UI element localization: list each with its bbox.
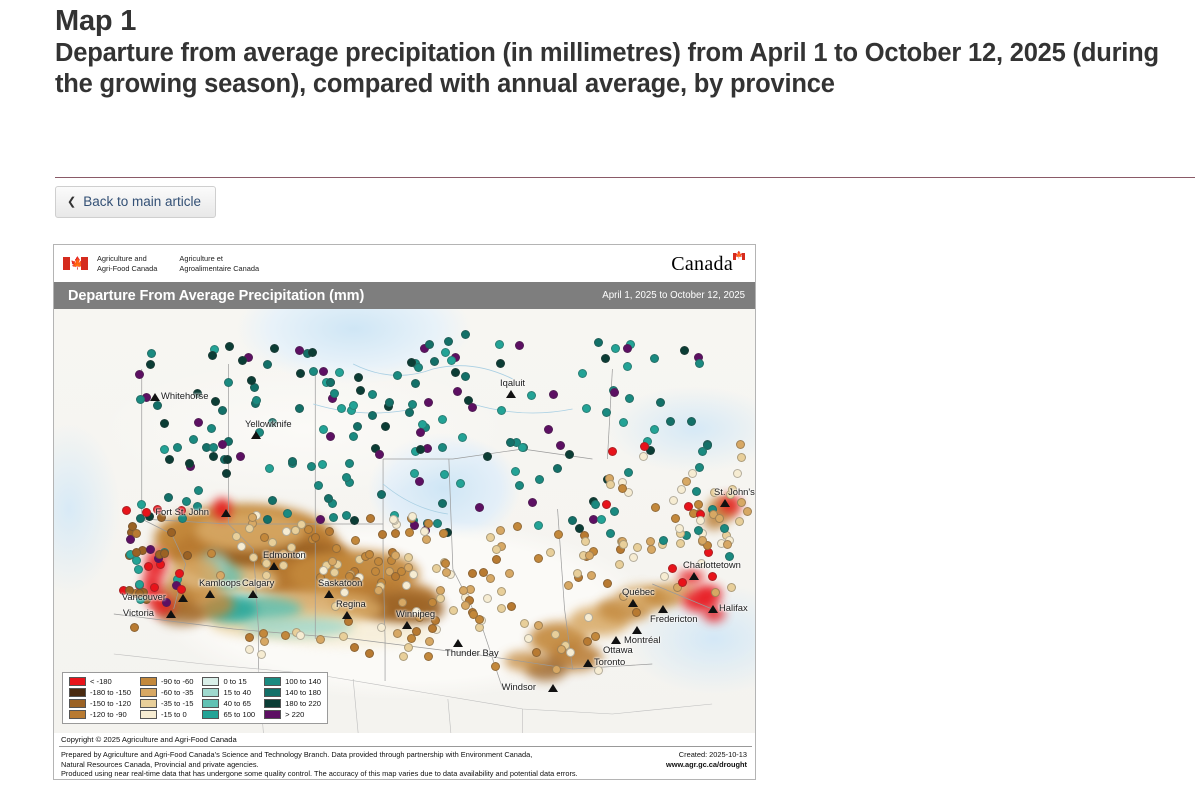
station-dot [222,469,231,478]
station-dot [167,528,176,537]
station-dot [696,516,705,525]
station-dot [260,533,269,542]
legend-label: -35 to -15 [161,699,194,708]
station-dot [308,348,317,357]
station-dot [424,398,433,407]
city-triangle-icon [221,509,231,517]
station-dot [565,450,574,459]
station-dot [461,372,470,381]
station-dot [453,387,462,396]
canada-flag-icon: 🍁 [63,257,88,270]
station-dot [425,340,434,349]
legend-swatch [69,677,86,686]
map-number: Map 1 [55,4,1185,38]
station-dot [430,357,439,366]
station-dot [237,542,246,551]
footer-right: Created: 2025-10-13 www.agr.gc.ca/drough… [666,750,747,780]
station-dot [438,499,447,508]
station-dot [160,549,169,558]
station-dot [624,468,633,477]
station-dot [451,368,460,377]
station-dot [393,371,402,380]
station-dot [439,529,448,538]
city-triangle-icon [689,572,699,580]
station-dot [698,536,707,545]
station-dot [425,637,434,646]
city-triangle-icon [708,605,718,613]
station-dot [416,445,425,454]
station-dot [601,354,610,363]
station-dot [666,417,675,426]
station-dot [468,403,477,412]
city-label: Saskatoon [318,578,362,588]
station-dot [436,594,445,603]
station-dot [633,543,642,552]
station-dot [698,447,707,456]
station-dot [391,551,400,560]
station-dot [354,373,363,382]
station-dot [209,452,218,461]
station-dot [279,561,288,570]
station-dot [326,378,335,387]
city-label: Regina [336,599,366,609]
city-triangle-icon [506,390,516,398]
station-dot [182,497,191,506]
city-triangle-icon [548,684,558,692]
station-dot [309,367,318,376]
station-dot [615,560,624,569]
station-dot [189,435,198,444]
station-dot [587,571,596,580]
station-dot [365,649,374,658]
city-triangle-icon [166,610,176,618]
station-dot [650,425,659,434]
station-dot [319,367,328,376]
station-dot [353,422,362,431]
station-dot [268,538,277,547]
city-label: Halifax [719,603,748,613]
station-dot [534,554,543,563]
city-triangle-icon [583,659,593,667]
legend-item: -180 to -150 [69,688,131,697]
city-triangle-icon [342,611,352,619]
station-dot [578,369,587,378]
station-dot [385,398,394,407]
legend-item: -120 to -90 [69,710,131,719]
station-dot [365,550,374,559]
station-dot [735,517,744,526]
station-dot [511,467,520,476]
station-dot [153,401,162,410]
station-dot [374,586,383,595]
station-dot [694,526,703,535]
legend-item: 65 to 100 [202,710,255,719]
station-dot [371,567,380,576]
station-dot [727,583,736,592]
station-dot [356,386,365,395]
station-dot [340,588,349,597]
city-label: Fort St. John [155,507,209,517]
station-dot [619,540,628,549]
city-label: Toronto [594,657,625,667]
station-dot [316,515,325,524]
station-dot [573,569,582,578]
station-dot [391,572,400,581]
station-dot [415,477,424,486]
station-dot [711,588,720,597]
station-dot [391,529,400,538]
legend-label: 140 to 180 [285,688,321,697]
city-label: Whitehorse [161,391,208,401]
station-dot [177,585,186,594]
wordmark-english: Agriculture and Agri-Food Canada [97,254,157,272]
station-dot [720,524,729,533]
station-dot [245,524,254,533]
city-label: St. John's [714,487,755,497]
station-dot [602,500,611,509]
city-label: Yellowknife [245,419,292,429]
station-dot [130,623,139,632]
city-triangle-icon [269,562,279,570]
station-dot [568,516,577,525]
legend-swatch [140,699,157,708]
city-label: Charlottetown [683,560,741,570]
legend-item: 15 to 40 [202,688,255,697]
station-dot [619,418,628,427]
legend-swatch [140,677,157,686]
station-dot [743,507,752,516]
station-dot [495,340,504,349]
station-dot [173,443,182,452]
station-dot [218,440,227,449]
station-dot [594,338,603,347]
station-dot [296,369,305,378]
station-dot [520,619,529,628]
station-dot [610,507,619,516]
station-dot [552,665,561,674]
station-dot [549,390,558,399]
station-dot [650,354,659,363]
station-dot [349,401,358,410]
station-dot [603,579,612,588]
station-dot [551,630,560,639]
station-dot [528,498,537,507]
legend-swatch [202,699,219,708]
station-dot [632,608,641,617]
station-dot [218,406,227,415]
city-triangle-icon [150,393,160,401]
legend-label: -150 to -120 [90,699,131,708]
city-label: Windsor [502,682,536,692]
station-dot [640,442,649,451]
station-dot [378,530,387,539]
station-dot [311,533,320,542]
station-dot [122,506,131,515]
station-dot [283,509,292,518]
station-dot [398,598,407,607]
map-legend: < -180-90 to -600 to 15100 to 140-180 to… [62,672,328,724]
station-dot [295,404,304,413]
station-dot [554,530,563,539]
legend-swatch [264,699,281,708]
station-dot [281,631,290,640]
station-dot [319,566,328,575]
station-dot [639,452,648,461]
station-dot [456,479,465,488]
station-dot [134,565,143,574]
station-dot [668,564,677,573]
station-dot [557,645,566,654]
station-dot [194,486,203,495]
station-dot [546,548,555,557]
station-dot [208,351,217,360]
station-dot [183,551,192,560]
station-dot [441,559,450,568]
station-dot [232,532,241,541]
legend-label: < -180 [90,677,112,686]
city-label: Fredericton [650,614,697,624]
station-dot [556,441,565,450]
legend-label: 40 to 65 [223,699,250,708]
city-triangle-icon [324,590,334,598]
city-label: Kamloops [199,578,241,588]
city-triangle-icon [632,626,642,634]
station-dot [224,378,233,387]
station-dot [515,481,524,490]
station-dot [377,623,386,632]
station-dot [424,652,433,661]
station-dot [535,475,544,484]
station-dot [399,652,408,661]
legend-swatch [69,710,86,719]
station-dot [497,406,506,415]
station-dot [296,631,305,640]
station-dot [458,433,467,442]
legend-item: -150 to -120 [69,699,131,708]
station-dot [316,635,325,644]
station-dot [566,648,575,657]
station-dot [381,422,390,431]
legend-label: 100 to 140 [285,677,321,686]
station-dot [342,473,351,482]
station-dot [345,459,354,468]
agency-brand-row: 🍁 Agriculture and Agri-Food Canada Agric… [54,245,755,282]
canada-wordmark-flag-icon: 🍁 [733,253,745,260]
station-dot [438,415,447,424]
station-dot [335,368,344,377]
city-triangle-icon [611,636,621,644]
station-dot [715,514,724,523]
station-dot [407,634,416,643]
city-label: Ottawa [603,645,633,655]
station-dot [223,455,232,464]
legend-item: -60 to -35 [140,688,194,697]
map-date-range: April 1, 2025 to October 12, 2025 [602,290,745,301]
station-dot [432,564,441,573]
legend-swatch [202,710,219,719]
city-label: Thunder Bay [445,648,499,658]
page-root: Map 1 Departure from average precipitati… [0,0,1195,812]
map-footer: Prepared by Agriculture and Agri-Food Ca… [54,748,755,780]
station-dot [137,500,146,509]
station-dot [669,496,678,505]
station-dot [260,637,269,646]
station-dot [737,453,746,462]
back-to-main-article-button[interactable]: ❮ Back to main article [55,186,216,218]
city-label: Victoria [123,608,154,618]
city-triangle-icon [402,621,412,629]
station-dot [282,527,291,536]
station-dot [146,360,155,369]
station-dot [265,464,274,473]
station-dot [247,376,256,385]
station-dot [164,493,173,502]
station-dot [236,452,245,461]
station-dot [325,527,334,536]
legend-label: -90 to -60 [161,677,194,686]
station-dot [513,522,522,531]
city-triangle-icon [720,499,730,507]
station-dot [337,404,346,413]
station-dot [225,342,234,351]
legend-item: > 220 [264,710,321,719]
station-dot [687,417,696,426]
station-dot [318,460,327,469]
station-dot [486,574,495,583]
legend-item: 140 to 180 [264,688,321,697]
city-triangle-icon [205,590,215,598]
station-dot [442,568,451,577]
station-dot [677,485,686,494]
station-dot [583,637,592,646]
station-dot [366,514,375,523]
station-dot [581,537,590,546]
city-label: Edmonton [263,550,306,560]
legend-label: 65 to 100 [223,710,255,719]
station-dot [647,545,656,554]
station-dot [678,578,687,587]
station-dot [422,535,431,544]
legend-item: < -180 [69,677,131,686]
drought-url[interactable]: www.agr.gc.ca/drought [666,760,747,770]
station-dot [209,443,218,452]
station-dot [524,634,533,643]
station-dot [438,443,447,452]
station-dot [651,503,660,512]
footer-divider [59,746,752,747]
station-dot [165,455,174,464]
city-label: Vancouver [122,592,166,602]
station-dot [328,557,337,566]
station-dot [527,391,536,400]
station-dot [475,503,484,512]
station-dot [297,520,306,529]
legend-swatch [264,710,281,719]
station-dot [505,569,514,578]
station-dot [263,360,272,369]
station-dot [207,549,216,558]
station-dot [377,490,386,499]
station-dot [564,581,573,590]
station-dot [408,512,417,521]
station-dot [708,572,717,581]
station-dot [692,487,701,496]
station-dot [695,359,704,368]
station-dot [534,621,543,630]
station-dot [332,544,341,553]
station-dot [483,594,492,603]
station-dot [553,464,562,473]
station-dot [606,529,615,538]
legend-swatch [140,710,157,719]
station-dot [393,629,402,638]
station-dot [515,341,524,350]
station-dot [339,632,348,641]
station-dot [723,540,732,549]
station-dot [248,513,257,522]
station-dot [350,516,359,525]
legend-item: 0 to 15 [202,677,255,686]
legend-label: > 220 [285,710,304,719]
station-dot [623,362,632,371]
created-date: Created: 2025-10-13 [666,750,747,760]
station-dot [506,438,515,447]
station-dot [449,606,458,615]
station-dot [623,344,632,353]
legend-swatch [69,699,86,708]
station-dot [414,363,423,372]
station-dot [737,498,746,507]
station-dot [544,425,553,434]
city-triangle-icon [248,590,258,598]
station-dot [584,613,593,622]
map-canvas: WhitehorseYellowknifeIqaluitFort St. Joh… [54,309,755,733]
station-dot [375,450,384,459]
station-dot [602,408,611,417]
station-dot [263,515,272,524]
legend-swatch [69,688,86,697]
station-dot [132,548,141,557]
station-dot [135,370,144,379]
map-figure: 🍁 Agriculture and Agri-Food Canada Agric… [53,244,756,780]
station-dot [142,508,151,517]
station-dot [307,462,316,471]
station-dot [597,515,606,524]
station-dot [404,643,413,652]
map-title-bar: Departure From Average Precipitation (mm… [54,282,755,309]
city-label: Winnipeg [396,609,435,619]
legend-item: -35 to -15 [140,699,194,708]
station-dot [582,404,591,413]
map-title-text: Departure From Average Precipitation (mm… [68,288,364,304]
heading-block: Map 1 Departure from average precipitati… [55,4,1185,100]
station-dot [160,445,169,454]
city-triangle-icon [251,431,261,439]
city-label: Québec [622,587,655,597]
station-dot [532,648,541,657]
station-dot [518,443,527,452]
back-button-label: Back to main article [83,195,201,209]
page-title: Departure from average precipitation (in… [55,38,1175,100]
station-dot [684,502,693,511]
station-dot [492,555,501,564]
station-dot [433,519,442,528]
station-dot [211,397,220,406]
canada-wordmark: Canada🍁 [671,254,745,274]
station-dot [330,389,339,398]
station-dot [733,469,742,478]
legend-swatch [264,677,281,686]
